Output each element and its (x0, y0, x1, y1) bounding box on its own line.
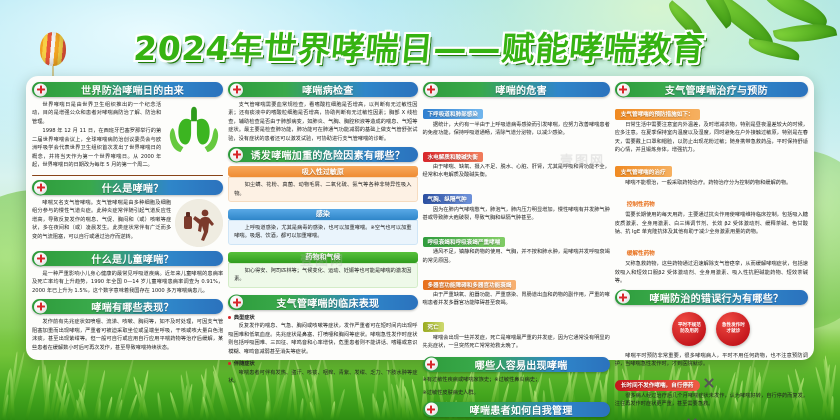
lungs-hands-icon (165, 101, 223, 155)
paragraph: 上呼吸道感染，尤其是病毒的感染，也可以加重哮喘。※空气也可以加重哮喘。吸烟、饮酒… (234, 224, 411, 241)
section-header-wrong-behaviour: 哮喘防治的错误行为有哪些？ (615, 290, 808, 305)
treatment-block: 控制性药物 需要长期使用的每天用药，主要通过抗炎作用使哮喘维持临床控制，包括吸入… (615, 191, 808, 236)
section-header-treatment: 支气管哮喘治疗与预防 (615, 82, 808, 97)
harm-tag: 下呼吸道和肺部感染 (423, 109, 483, 119)
trigger-infection: 感染 上呼吸道感染，尤其是病毒的感染，也可以加重哮喘。※空气也可以加重哮喘。吸烟… (228, 209, 417, 248)
medical-cross-icon (229, 82, 244, 97)
medical-cross-icon (424, 82, 439, 97)
paragraph: 如尘螨、花粉、真菌、动物毛屑、二氧化硫、氨气等各种非特异性吸入物。 (234, 181, 411, 198)
section-header-clinical: 支气管哮喘的临床表现 (228, 295, 417, 310)
section-title: 诱发哮喘加重的危险因素有哪些？ (241, 147, 406, 162)
section-header-symptoms: 哮喘有哪些表现？ (32, 299, 223, 314)
trigger-body: 如尘螨、花粉、真菌、动物毛屑、二氧化硫、氨气等各种非特异性吸入物。 (228, 177, 417, 202)
clinical-bullet: 伴随症状 哮喘患者可伴有发热、盗汗、咳痰、咽痒、青紫、发绀、乏力、下肢水肿等症状… (228, 360, 417, 386)
paragraph: 哮喘又名支气管哮喘。支气管哮喘是由多种细胞及细胞组分参与的慢性气道炎症。此种炎症… (32, 199, 171, 241)
harm-item: 水电解质和酸碱失衡 由于哮喘、缺氧、摄入不足、脱水、心脏、肝肾，尤其是呼吸和肾功… (423, 144, 610, 183)
harm-tag: 多器官功能障碍和多器官功能衰竭 (423, 280, 517, 290)
hot-air-balloon-icon (40, 32, 66, 66)
section-header-triggers: 诱发哮喘加重的危险因素有哪些？ (228, 147, 417, 162)
section-header-harm: 哮喘的危害 (423, 82, 610, 97)
paragraph: 由于严重缺氧、脏器功能、严重感染、胃肠道出血和药物的副作用，严重的哮喘患者并发多… (423, 291, 610, 308)
medical-cross-icon (424, 357, 439, 372)
treatment-block: 支气管哮喘的治疗 哮喘不能根治，一般采取药物治疗。药物治疗分为控制药物和缓解药物… (615, 159, 808, 187)
paragraph: 世界哮喘日是由世界卫生组织推出的一个纪念活动，目的是增强公众和患者对哮喘病防治了… (32, 101, 161, 126)
column-examination: 哮喘病检查 支气管哮喘需要血常规检查，看嗜酸粒细胞是否增高，以判断有无过敏性因素… (228, 82, 417, 356)
harm-tag: 死亡 (423, 322, 444, 332)
trigger-label: 吸入性过敏原 (228, 166, 417, 177)
medical-cross-icon (33, 299, 48, 314)
poster-root: 2024年世界哮喘日——赋能哮喘教育 世界防治哮喘日的由来 世界哮喘日是由世界卫… (0, 0, 840, 420)
harm-item: 多器官功能障碍和多器官功能衰竭 由于严重缺氧、脏器功能、严重感染、胃肠道出血和药… (423, 272, 610, 311)
inhaler-person-icon (175, 199, 223, 247)
bullet-dot-icon (228, 316, 231, 319)
paragraph: 通风不足，镇静和药物的使用、气胸，并不按和肺水肿，是哮喘并发呼吸衰竭的常见原因。 (423, 248, 610, 265)
wrong-behaviour-item: 咳嗽变异性哮喘易忽视 咳嗽变异性哮喘是支气管哮喘的特殊类型。表现为刺激性咳嗽，多… (615, 413, 808, 420)
origin-body-row: 世界哮喘日是由世界卫生组织推出的一个纪念活动，目的是增强公众和患者对哮喘病防治了… (32, 101, 223, 169)
section-title: 哮喘患者如何自我管理 (460, 402, 573, 417)
section-header-child-asthma: 什么是儿童哮喘？ (32, 251, 223, 266)
paragraph: 据统计，大约有一半由于上呼吸道病毒感染而引发哮喘，应努力改善哮喘患者的免疫功能，… (423, 121, 610, 138)
bullet-title: 伴随症状 (234, 360, 255, 369)
wrong-behaviour-circle: 急性发作时才就诊 (716, 312, 750, 346)
wrong-behaviour-circle: 平时不规范防及用药 (672, 312, 706, 346)
harm-tag: 呼吸衰竭和呼吸衰竭严重哮喘 (423, 237, 506, 247)
section-title: 哮喘病检查 (292, 82, 354, 97)
section-title: 支气管哮喘的临床表现 (266, 295, 379, 310)
medical-cross-icon (616, 290, 631, 305)
theme-banner: 2024年世界防治哮喘日 主 题 活 动 防治哮喘 关爱健康 (32, 175, 223, 176)
medical-cross-icon (33, 251, 48, 266)
harm-tag: 气胸、纵隔气肿 (423, 194, 472, 204)
x-mark-icon (703, 377, 715, 389)
section-header-who-at-risk: 哪些人容易出现哮喘 (423, 357, 610, 372)
section-header-self-management: 哮喘患者如何自我管理 (423, 402, 610, 417)
bullet-title: 典型症状 (234, 314, 255, 323)
inhaler-person-illustration (175, 199, 223, 247)
section-title: 支气管哮喘治疗与预防 (655, 82, 768, 97)
section-header-origin: 世界防治哮喘日的由来 (32, 82, 223, 97)
bullet-dot-icon (228, 362, 231, 365)
paragraph: 是一种严重影响小儿身心健康的最常见呼吸道疾病。近年来儿童哮喘的患病率及死亡率均有… (32, 270, 223, 295)
section-header-exam: 哮喘病检查 (228, 82, 417, 97)
treatment-block: 支气管哮喘的预防措施如下： 日常生活中需要注意室内外温差，及时增减衣物，特别是昼… (615, 101, 808, 155)
column-origin: 世界防治哮喘日的由来 世界哮喘日是由世界卫生组织推出的一个纪念活动，目的是增强公… (32, 82, 223, 356)
medical-cross-icon (616, 82, 631, 97)
wrong-behaviour-pill: 长时间不发作哮喘，自行停药 (615, 380, 700, 391)
harm-item: 下呼吸道和肺部感染 据统计，大约有一半由于上呼吸道病毒感染而引发哮喘，应努力改善… (423, 101, 610, 140)
section-title: 哮喘有哪些表现？ (81, 299, 173, 314)
medical-cross-icon (33, 180, 48, 195)
trigger-body: 如心得安、阿司匹林等；气候变化、运动、妊娠等也可能是哮喘的激发因素。 (228, 263, 417, 288)
paragraph: 发作前有先兆症状如喷嚏、流涕、咳嗽、胸闷等，如不及时处理，可因支气管阻塞加重而出… (32, 318, 223, 352)
grass-blade-icon (335, 389, 346, 420)
bullet-row: 伴随症状 (228, 360, 417, 369)
trigger-label: 药物和气候 (228, 252, 417, 263)
section-title: 哮喘的危害 (485, 82, 547, 97)
bullet-row: 典型症状 (228, 314, 417, 323)
section-title: 世界防治哮喘日的由来 (71, 82, 184, 97)
grass-blade-icon (156, 392, 162, 420)
paragraph: 哮喘患者可伴有发热、盗汗、咳痰、咽痒、青紫、发绀、乏力、下肢水肿等症状。 (228, 369, 417, 386)
harm-tag: 水电解质和酸碱失衡 (423, 152, 483, 162)
section-title: 什么是儿童哮喘？ (81, 251, 173, 266)
harm-item: 死亡 哮喘会出现一些并发症，死亡是哮喘最严重的并发症，因为它通常没有明显的先兆症… (423, 314, 610, 353)
trigger-drug-climate: 药物和气候 如心得安、阿司匹林等；气候变化、运动、妊娠等也可能是哮喘的激发因素。 (228, 252, 417, 291)
paragraph: 哮喘不能根治，一般采取药物治疗。药物治疗分为控制药物和缓解药物。 (615, 179, 808, 187)
wrong-behaviour-circles: 平时不规范防及用药 急性发作时才就诊 (615, 312, 808, 346)
paragraph: 又称急救药物，这些药物通过迅速解除支气管痉挛，从而缓解哮喘症状，包括速效吸入和短… (615, 260, 808, 285)
treatment-subheading: 控制性药物 (615, 199, 661, 210)
paragraph: 哮喘会出现一些并发症，死亡是哮喘最严重的并发症，因为它通常没有明显的先兆症状，一… (423, 334, 610, 351)
clinical-bullet: 典型症状 反复发作的喘息、气急、胸闷或咳嗽等症状，发作严重者可在短时间内出现呼吸… (228, 314, 417, 356)
grass-blade-icon (169, 392, 180, 420)
paragraph: 如心得安、阿司匹林等；气候变化、运动、妊娠等也可能是哮喘的激发因素。 (234, 267, 411, 284)
lungs-in-hands-illustration (165, 101, 223, 155)
paragraph: 很多病人经过治疗后几个月哮喘症状未发作，认为哮喘好转，自行停药而复发。注往再发作… (615, 392, 808, 409)
paragraph: 日常生活中需要注意室内外温差，及时增减衣物，特别是昼夜温差较大的时候，应多注意。… (615, 121, 808, 155)
section-title: 哮喘防治的错误行为有哪些？ (639, 290, 783, 305)
medical-cross-icon (424, 402, 439, 417)
trigger-label: 感染 (228, 209, 417, 220)
what-is-asthma-row: 哮喘又名支气管哮喘。支气管哮喘是由多种细胞及细胞组分参与的慢性气道炎症。此种炎症… (32, 199, 223, 247)
paragraph: ※有过敏性疾病或哮喘家族史；※过敏性鼻炎病史； (423, 376, 610, 384)
paragraph: 1998 年 12 月 11 日，在西班牙巴塞罗那举行的第二届世界哮喘会议上，全… (32, 127, 161, 169)
medical-cross-icon (33, 82, 48, 97)
grass-blade-icon (25, 365, 41, 420)
section-title: 哪些人容易出现哮喘 (465, 357, 568, 372)
grass-blade-icon (105, 396, 113, 420)
section-title: 什么是哮喘？ (92, 180, 164, 195)
wrong-behaviour-item: 长时间不发作哮喘，自行停药 很多病人经过治疗后几个月哮喘症状未发作，认为哮喘好转… (615, 372, 808, 408)
paragraph: 因为在肺内气哮喘憋气，肺泡气，肺内压力明显增加，慢性哮喘有并发肺气肿甚或导致肺大… (423, 206, 610, 223)
treatment-subheading: 支气管哮喘的治疗 (615, 166, 672, 177)
paragraph: 支气管哮喘需要血常规检查，看嗜酸粒细胞是否增高，以判断有无过敏性因素；还有痰液中… (228, 101, 417, 143)
column-harm: 哮喘的危害 下呼吸道和肺部感染 据统计，大约有一半由于上呼吸道病毒感染而引发哮喘… (423, 82, 610, 356)
treatment-subheading: 支气管哮喘的预防措施如下： (615, 109, 700, 120)
treatment-block: 缓解性药物 又称急救药物，这些药物通过迅速解除支气管痉挛，从而缓解哮喘症状，包括… (615, 240, 808, 285)
medical-cross-icon (229, 295, 244, 310)
paragraph: 由于哮喘、缺氧、摄入不足、脱水、心脏、肝肾，尤其是呼吸和肾功能不全，经常和水电解… (423, 163, 610, 180)
paragraph: 反复发作的喘息、气急、胸闷或咳嗽等症状，发作严重者可在短时间内出现呼吸困难和低氧… (228, 322, 417, 356)
paragraph: ※过敏性皮肤病史人群。 (423, 389, 610, 397)
medical-cross-icon (229, 147, 244, 162)
content-board: 世界防治哮喘日的由来 世界哮喘日是由世界卫生组织推出的一个纪念活动，目的是增强公… (26, 76, 814, 360)
paragraph: 需要长期使用的每天用药，主要通过抗炎作用使哮喘维持临床控制，包括吸入糖皮质激素、… (615, 211, 808, 236)
paragraph: 哮喘平时预防非常重要，很多哮喘病人，平时不用任何药物，也不注意预防调护，当哮喘急… (615, 352, 808, 369)
trigger-allergen: 吸入性过敏原 如尘螨、花粉、真菌、动物毛屑、二氧化硫、氨气等各种非特异性吸入物。 (228, 166, 417, 205)
column-treatment: 支气管哮喘治疗与预防 支气管哮喘的预防措施如下： 日常生活中需要注意室内外温差，… (615, 82, 808, 356)
theme-banner-top: 2024年世界防治哮喘日 主 题 活 动 (32, 175, 223, 176)
section-header-what-is-asthma: 什么是哮喘？ (32, 180, 223, 195)
trigger-body: 上呼吸道感染，尤其是病毒的感染，也可以加重哮喘。※空气也可以加重哮喘。吸烟、饮酒… (228, 220, 417, 245)
harm-item: 呼吸衰竭和呼吸衰竭严重哮喘 通风不足，镇静和药物的使用、气胸，并不按和肺水肿，是… (423, 229, 610, 268)
harm-item: 气胸、纵隔气肿 因为在肺内气哮喘憋气，肺泡气，肺内压力明显增加，慢性哮喘有并发肺… (423, 186, 610, 225)
treatment-subheading: 缓解性药物 (615, 248, 661, 259)
